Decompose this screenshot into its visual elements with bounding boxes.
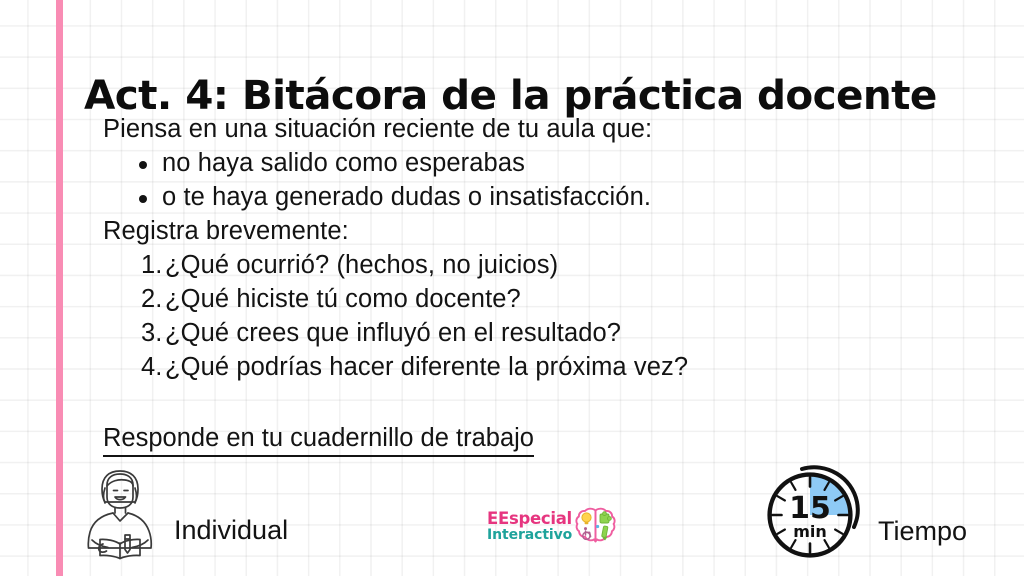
brand-wordmark: EEspecial Interactivo xyxy=(487,511,572,542)
person-with-book-icon xyxy=(78,468,164,560)
instruction-lead-secondary: Registra brevemente: xyxy=(103,214,983,248)
brand-line-1: EEspecial xyxy=(487,511,572,528)
list-item: ¿Qué podrías hacer diferente la próxima … xyxy=(141,350,983,384)
grouping-label: Individual xyxy=(174,517,288,560)
list-item: no haya salido como esperabas xyxy=(135,146,983,180)
instruction-lead: Piensa en una situación reciente de tu a… xyxy=(103,112,983,146)
brain-icon xyxy=(574,506,618,548)
timer-unit: min xyxy=(793,522,827,541)
timer-label: Tiempo xyxy=(878,518,967,565)
list-item: o te haya generado dudas o insatisfacció… xyxy=(135,180,983,214)
page-title: Act. 4: Bitácora de la práctica docente xyxy=(84,75,994,116)
reflection-question-list: ¿Qué ocurrió? (hechos, no juicios) ¿Qué … xyxy=(103,248,983,384)
list-item: ¿Qué crees que influyó en el resultado? xyxy=(141,316,983,350)
list-item: ¿Qué hiciste tú como docente? xyxy=(141,282,983,316)
stopwatch-icon: 15 min xyxy=(758,461,870,565)
list-item: ¿Qué ocurrió? (hechos, no juicios) xyxy=(141,248,983,282)
condition-bullet-list: no haya salido como esperabas o te haya … xyxy=(103,146,983,214)
brand-logo: EEspecial Interactivo xyxy=(487,506,618,548)
call-to-action-text: Responde en tu cuadernillo de trabajo xyxy=(103,422,534,457)
grouping-indicator: Individual xyxy=(78,468,288,560)
timer-value: 15 xyxy=(789,491,831,526)
time-indicator: 15 min Tiempo xyxy=(758,461,967,565)
paper-margin-line xyxy=(56,0,63,576)
activity-instructions: Piensa en una situación reciente de tu a… xyxy=(103,112,983,384)
brand-line-2: Interactivo xyxy=(487,528,572,542)
slide-canvas: Act. 4: Bitácora de la práctica docente … xyxy=(0,0,1024,576)
